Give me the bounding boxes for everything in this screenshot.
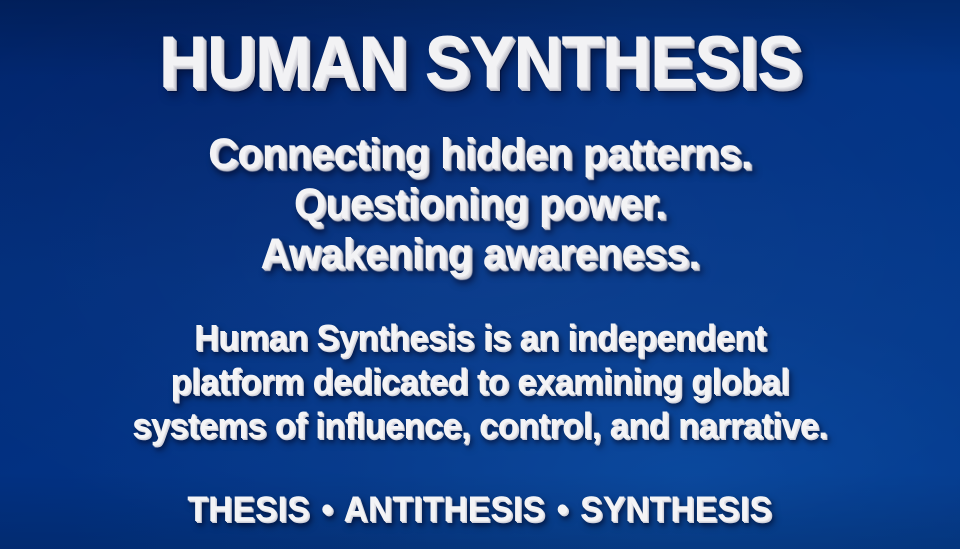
content-stack: HUMAN SYNTHESIS Connecting hidden patter… bbox=[0, 18, 960, 530]
subtitle-line-3: Awakening awareness. bbox=[208, 230, 751, 280]
description-line-3: systems of influence, control, and narra… bbox=[132, 404, 827, 448]
description-line-2: platform dedicated to examining global bbox=[132, 360, 827, 404]
poster-canvas: HUMAN SYNTHESIS Connecting hidden patter… bbox=[0, 0, 960, 549]
bullet-separator-icon: • bbox=[555, 490, 571, 530]
motto: THESIS • ANTITHESIS • SYNTHESIS bbox=[188, 490, 773, 530]
motto-part-antithesis: ANTITHESIS bbox=[344, 490, 545, 529]
motto-part-thesis: THESIS bbox=[188, 490, 310, 529]
bullet-separator-icon: • bbox=[320, 490, 336, 530]
subtitle-line-1: Connecting hidden patterns. bbox=[208, 130, 751, 180]
tagline-group: Connecting hidden patterns. Questioning … bbox=[194, 130, 766, 280]
motto-part-synthesis: SYNTHESIS bbox=[580, 490, 772, 529]
description-block: Human Synthesis is an independent platfo… bbox=[114, 316, 846, 448]
description-line-1: Human Synthesis is an independent bbox=[132, 316, 827, 360]
subtitle-line-2: Questioning power. bbox=[208, 180, 751, 230]
page-title: HUMAN SYNTHESIS bbox=[159, 26, 801, 100]
